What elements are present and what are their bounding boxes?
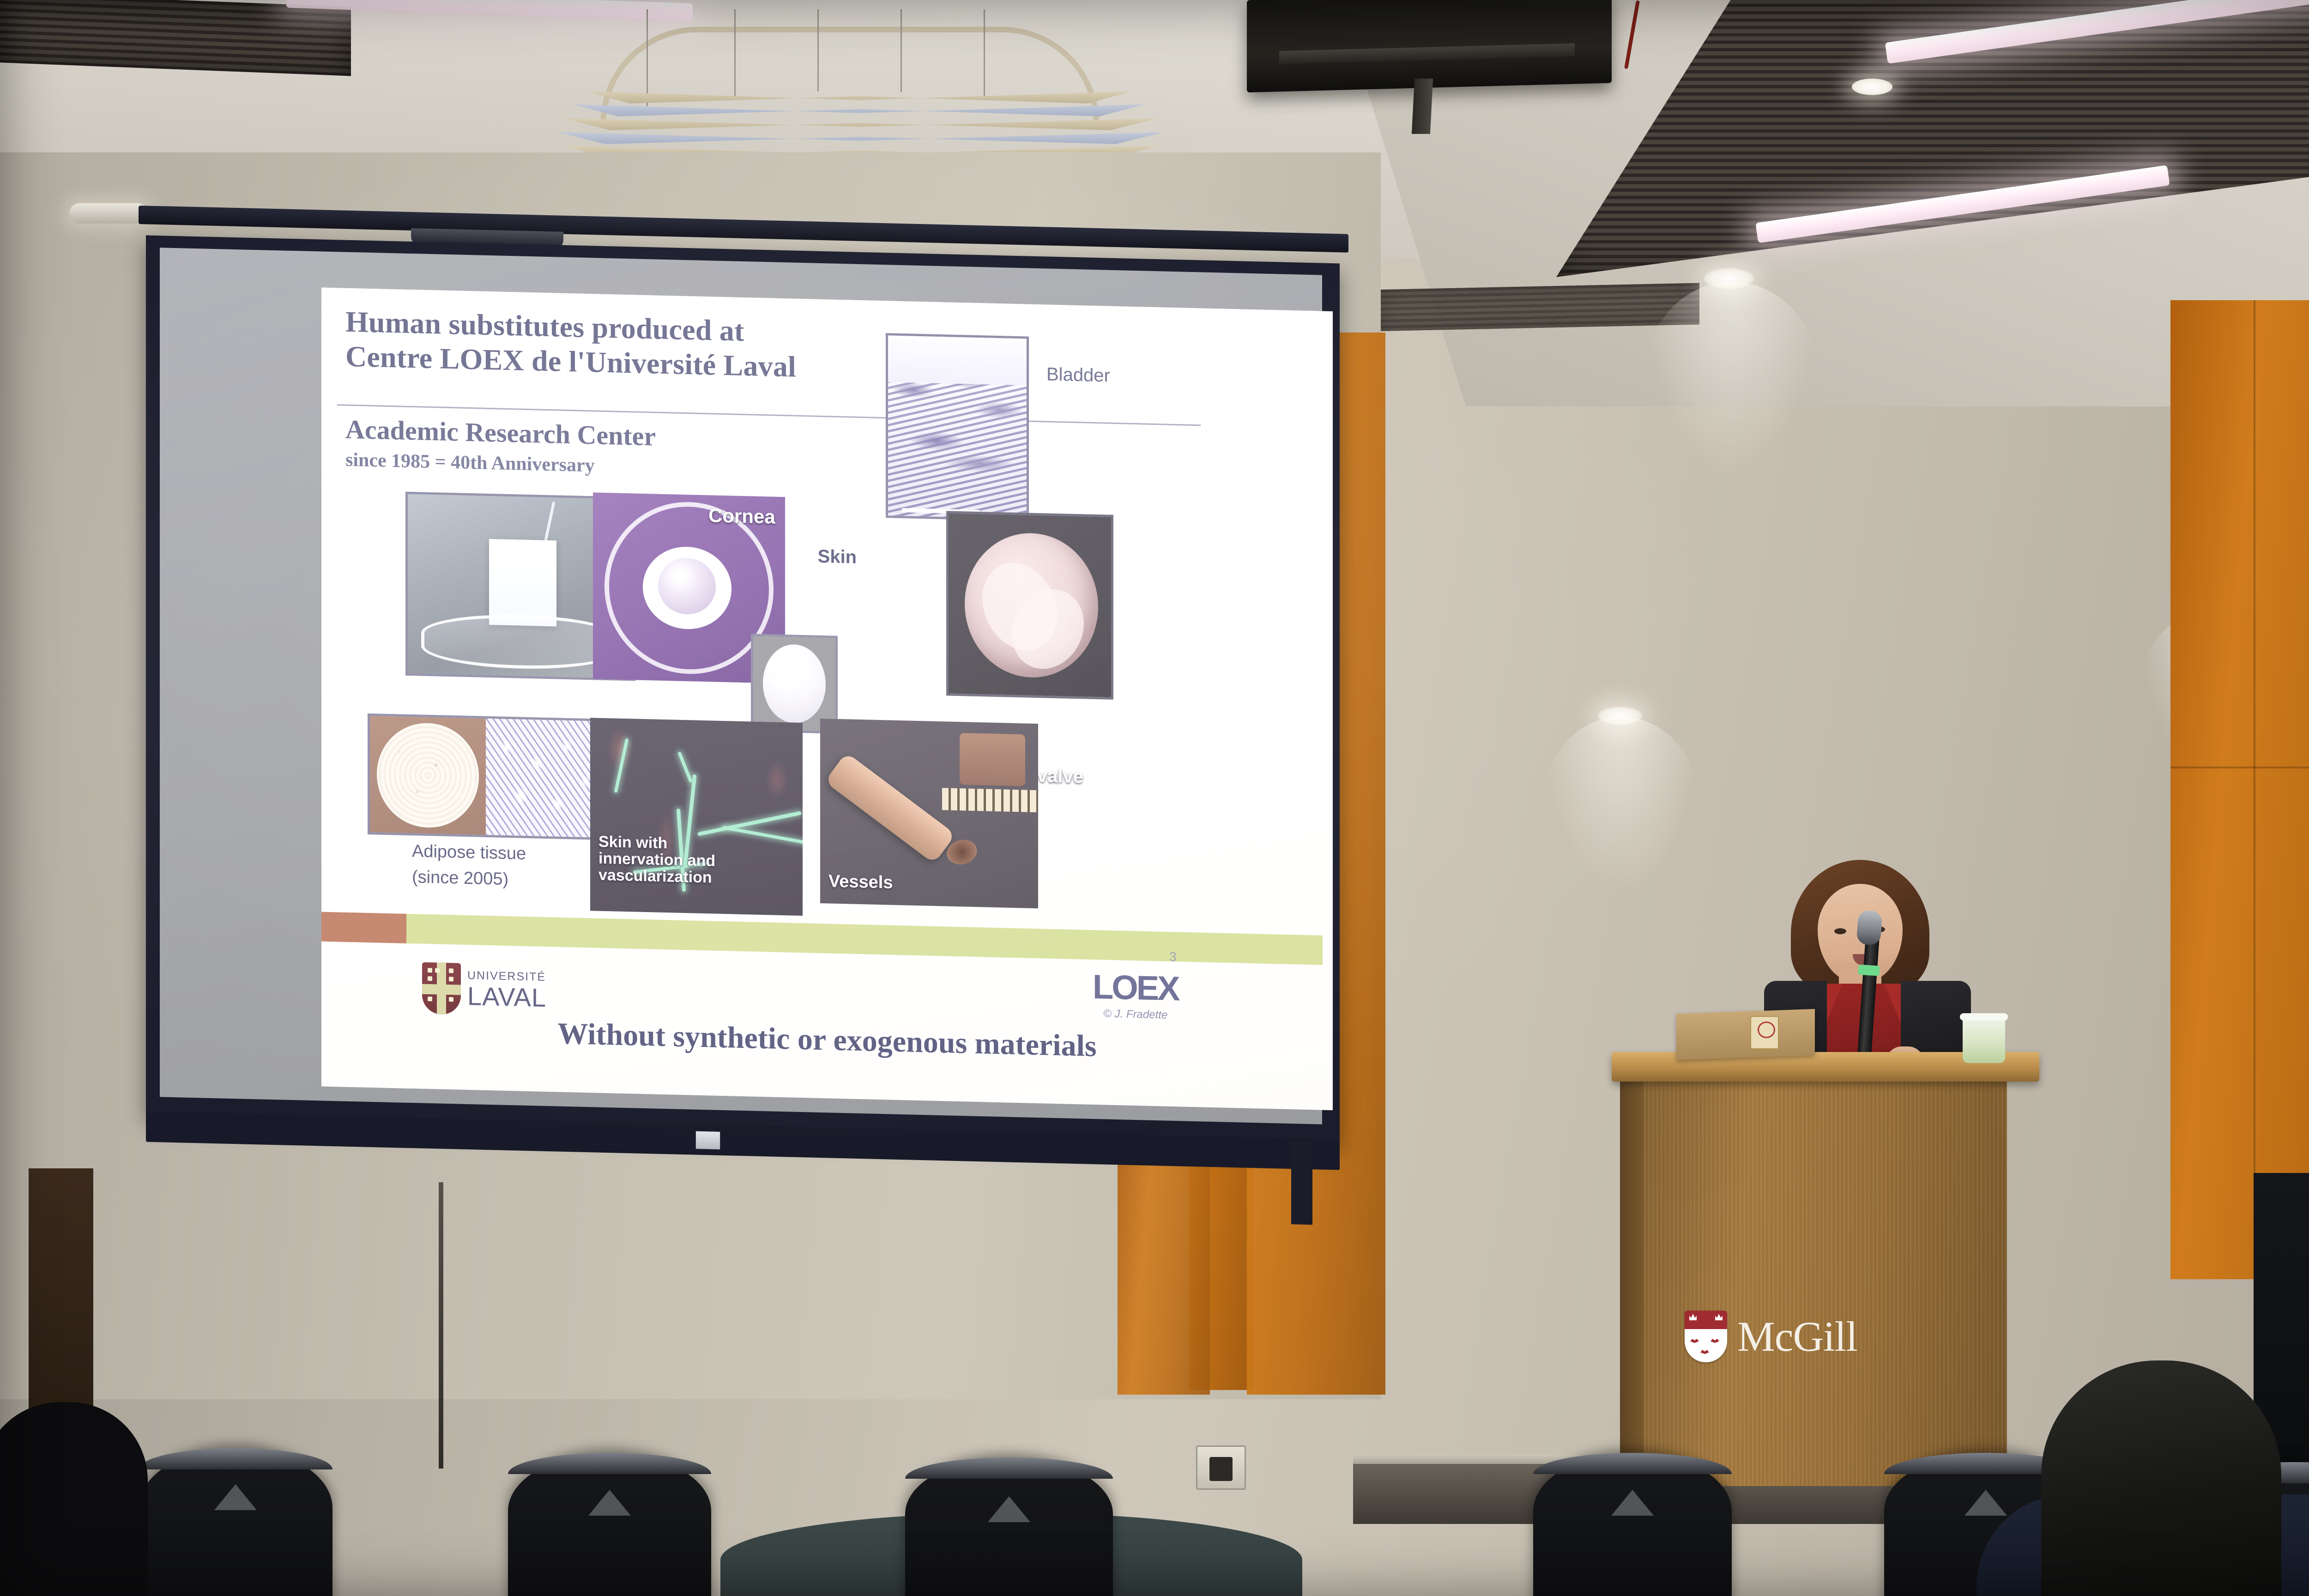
panel-image-adipose <box>368 713 604 840</box>
microphone-icon <box>1856 910 1882 945</box>
panel-label-vessels: Vessels <box>828 872 893 892</box>
slide-section-subtext: since 1985 = 40th Anniversary <box>345 449 595 477</box>
loex-wordmark: LOEX <box>1093 967 1178 1008</box>
laptop-on-podium <box>1676 1009 1815 1060</box>
ceiling-slat-panel-center <box>1376 283 1699 332</box>
stanchion-pole <box>439 1182 443 1469</box>
screen-wall-bracket <box>1291 1141 1312 1225</box>
cornea-inset-specimen <box>763 644 825 724</box>
screen-label-tag <box>695 1131 720 1150</box>
wall-outlet-icon <box>1196 1445 1246 1490</box>
podium-front-panel <box>1644 1080 2007 1486</box>
podium: McGill <box>1620 1052 2031 1486</box>
audience-head-right <box>2041 1360 2281 1596</box>
microphone-band <box>1858 964 1880 976</box>
audience-chair <box>905 1457 1113 1596</box>
downlight-icon <box>1852 79 1892 95</box>
panel-image-innervation <box>590 718 803 916</box>
mcgill-logo: McGill <box>1685 1311 1857 1362</box>
lecture-hall-photo: Human substitutes produced at Centre LOE… <box>0 0 2309 1596</box>
panel-image-cardiac-valve <box>946 511 1113 700</box>
adipose-gross-photo <box>370 716 486 835</box>
skin-substitute-sheet <box>489 539 556 627</box>
panel-label-innervation: Skin with innervation and vascularizatio… <box>598 834 751 887</box>
slide-tagline: Without synthetic or exogenous materials <box>321 1010 1333 1070</box>
panel-label-cornea: Cornea <box>708 505 775 527</box>
audience-chair <box>1533 1453 1732 1596</box>
downlight-glow <box>1644 282 1819 476</box>
downlight-glow <box>1542 717 1699 892</box>
cup-rim <box>1960 1013 2008 1021</box>
presentation-slide: Human substitutes produced at Centre LOE… <box>321 287 1333 1110</box>
wood-panel-seam <box>2254 300 2255 1279</box>
pendant-light-fixture <box>494 9 1242 166</box>
slide-section-heading: Academic Research Center <box>345 414 656 452</box>
histology-lumen <box>888 335 1027 385</box>
laval-wordmark-line-2: LAVAL <box>467 983 546 1010</box>
loex-credit: © J. Fradette <box>1093 1007 1178 1022</box>
laval-shield-icon <box>422 962 461 1015</box>
wood-panel-low <box>1118 1155 1210 1395</box>
adipose-histology-photo <box>486 719 602 838</box>
podium-side-panel <box>1620 1079 1646 1487</box>
slide-number: 3 <box>1169 949 1177 964</box>
loex-logo: LOEX © J. Fradette <box>1093 967 1178 1022</box>
panel-image-bladder <box>886 333 1029 521</box>
audience-chair <box>508 1453 711 1596</box>
panel-label-bladder: Bladder <box>1046 364 1110 386</box>
projector-mount-arm <box>1412 79 1433 134</box>
laval-wordmark-line-1: UNIVERSITÉ <box>467 969 546 983</box>
universite-laval-logo: UNIVERSITÉ LAVAL <box>422 959 570 1022</box>
wall-light-icon <box>69 203 148 224</box>
panel-label-adipose: Adipose tissue <box>412 842 526 863</box>
mcgill-shield-icon <box>1685 1311 1727 1362</box>
screen-surface: Human substitutes produced at Centre LOE… <box>160 248 1322 1124</box>
audience-head-left <box>0 1402 148 1596</box>
drinking-cup <box>1963 1016 2005 1063</box>
slide-accent-band-green <box>369 913 1323 965</box>
wood-panel-seam <box>2170 767 2309 768</box>
laptop-sticker <box>1750 1016 1779 1049</box>
mcgill-wordmark: McGill <box>1737 1312 1857 1361</box>
vessel-secondary-sample <box>960 733 1025 786</box>
wood-panel-right <box>2170 300 2309 1279</box>
ruler-icon <box>942 788 1038 812</box>
audience-chair <box>139 1448 332 1596</box>
projection-screen: Human substitutes produced at Centre LOE… <box>146 236 1340 1143</box>
slide-accent-band-terracotta <box>321 912 406 943</box>
panel-label-adipose-since: (since 2005) <box>412 868 508 889</box>
